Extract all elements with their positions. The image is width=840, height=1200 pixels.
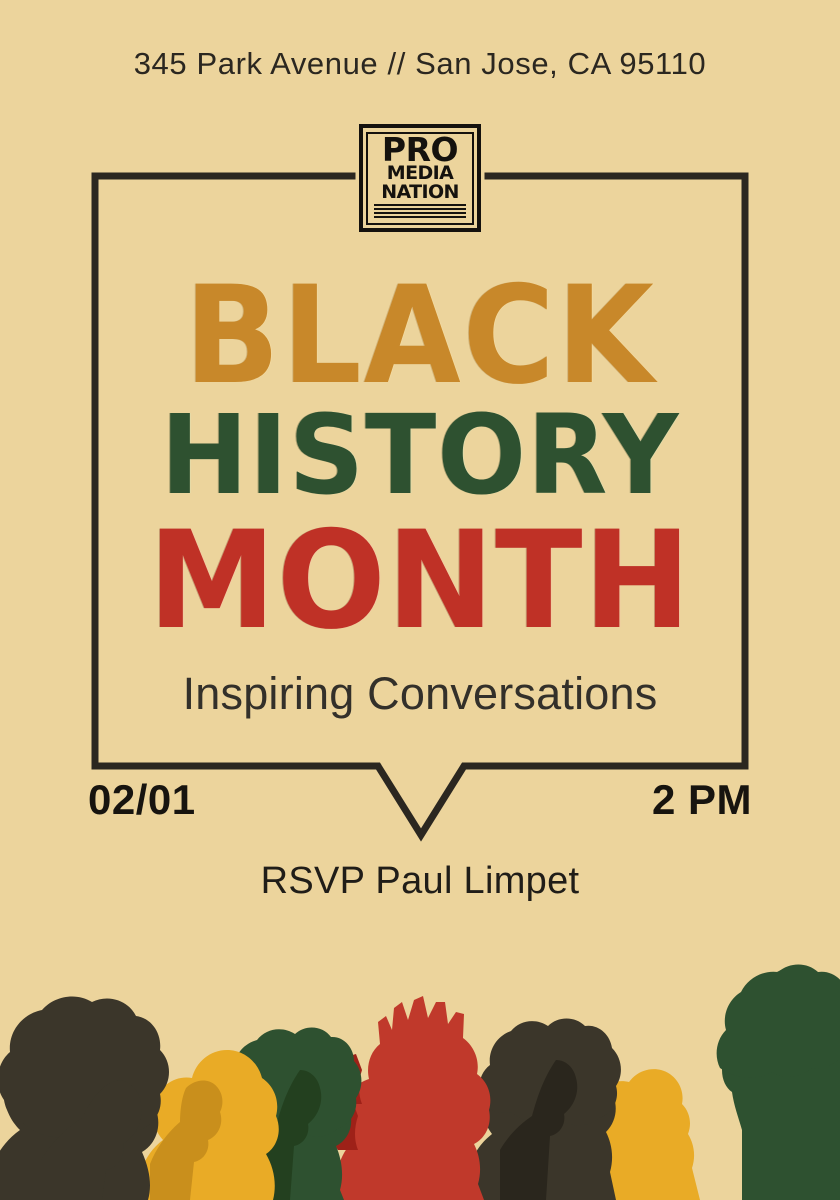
- brand-logo: PRO MEDIA NATION: [359, 124, 481, 232]
- silhouette-illustration: [0, 920, 840, 1200]
- event-date: 02/01: [88, 776, 196, 824]
- silhouette-red-center: [338, 996, 490, 1200]
- brand-logo-line3: NATION: [381, 183, 459, 202]
- brand-logo-inner-border: PRO MEDIA NATION: [366, 132, 474, 225]
- headline-month: MONTH: [21, 513, 819, 648]
- event-subtitle: Inspiring Conversations: [0, 668, 840, 720]
- silhouette-green-right-hair: [717, 965, 840, 1078]
- headline-black: BLACK: [29, 268, 810, 403]
- brand-logo-line1: PRO: [382, 136, 458, 164]
- venue-address: 345 Park Avenue // San Jose, CA 95110: [0, 46, 840, 82]
- rsvp-line: RSVP Paul Limpet: [0, 860, 840, 903]
- event-time: 2 PM: [652, 776, 752, 824]
- headline-history: HISTORY: [21, 400, 819, 510]
- poster-canvas: 345 Park Avenue // San Jose, CA 95110 PR…: [0, 0, 840, 1200]
- brand-logo-stripes: [374, 204, 466, 218]
